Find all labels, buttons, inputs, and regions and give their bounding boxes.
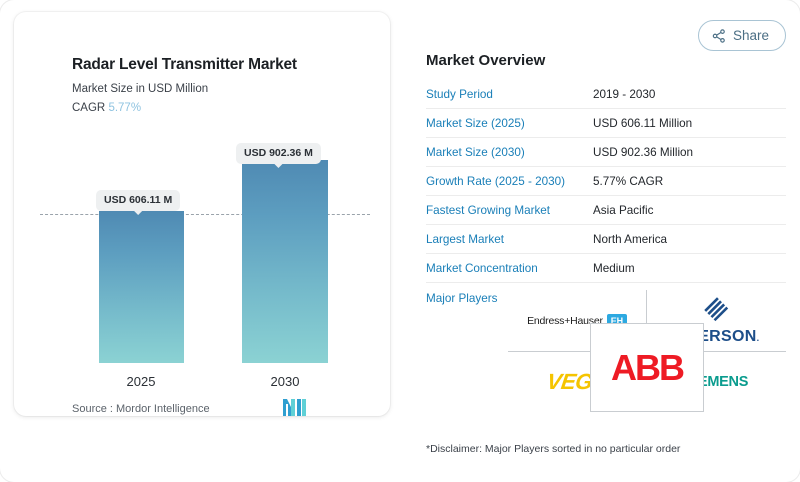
bar-value-label-2025: USD 606.11 M — [96, 190, 180, 211]
table-row: Fastest Growing Market Asia Pacific — [426, 196, 786, 225]
abb-logo-icon: ABB — [611, 350, 683, 386]
report-infographic: Radar Level Transmitter Market Market Si… — [0, 0, 800, 482]
row-value: USD 606.11 Million — [593, 117, 692, 130]
row-label: Market Size (2025) — [426, 117, 593, 130]
row-value: 2019 - 2030 — [593, 88, 655, 101]
table-row: Study Period 2019 - 2030 — [426, 80, 786, 109]
x-axis-tick-2025: 2025 — [96, 374, 186, 389]
disclaimer-text: *Disclaimer: Major Players sorted in no … — [426, 443, 680, 455]
market-overview-table: Study Period 2019 - 2030 Market Size (20… — [426, 80, 786, 313]
row-label: Market Concentration — [426, 262, 593, 275]
share-button-label: Share — [733, 28, 769, 43]
bar-value-label-2030: USD 902.36 M — [236, 143, 321, 164]
table-row: Largest Market North America — [426, 225, 786, 254]
row-value: North America — [593, 233, 667, 246]
share-nodes-icon — [712, 29, 726, 43]
row-label: Growth Rate (2025 - 2030) — [426, 175, 593, 188]
emerson-mark-icon — [704, 297, 730, 323]
table-row: Growth Rate (2025 - 2030) 5.77% CAGR — [426, 167, 786, 196]
bar-2030 — [242, 160, 328, 363]
row-value: 5.77% CAGR — [593, 175, 663, 188]
bar-2025 — [99, 211, 184, 363]
table-row: Market Size (2030) USD 902.36 Million — [426, 138, 786, 167]
row-label: Study Period — [426, 88, 593, 101]
table-row: Market Concentration Medium — [426, 254, 786, 283]
major-players-logo-grid: Endress+HauserEH EMERSON. VEGA SIE — [508, 290, 786, 412]
source-label: Source : Mordor Intelligence — [72, 403, 210, 415]
market-overview-title: Market Overview — [426, 52, 545, 69]
row-label: Largest Market — [426, 233, 593, 246]
mordor-intelligence-logo-icon — [283, 399, 307, 416]
share-button[interactable]: Share — [698, 20, 786, 51]
row-value: Medium — [593, 262, 635, 275]
table-row: Market Size (2025) USD 606.11 Million — [426, 109, 786, 138]
emerson-tm: . — [757, 333, 760, 343]
row-label: Market Size (2030) — [426, 146, 593, 159]
row-value: Asia Pacific — [593, 204, 653, 217]
logo-abb: ABB — [590, 323, 704, 412]
x-axis-tick-2030: 2030 — [240, 374, 330, 389]
row-value: USD 902.36 Million — [593, 146, 693, 159]
chart-card: Radar Level Transmitter Market Market Si… — [14, 12, 390, 416]
bar-chart-plot: USD 606.11 M USD 902.36 M 2025 2030 — [14, 12, 390, 416]
row-label: Fastest Growing Market — [426, 204, 593, 217]
